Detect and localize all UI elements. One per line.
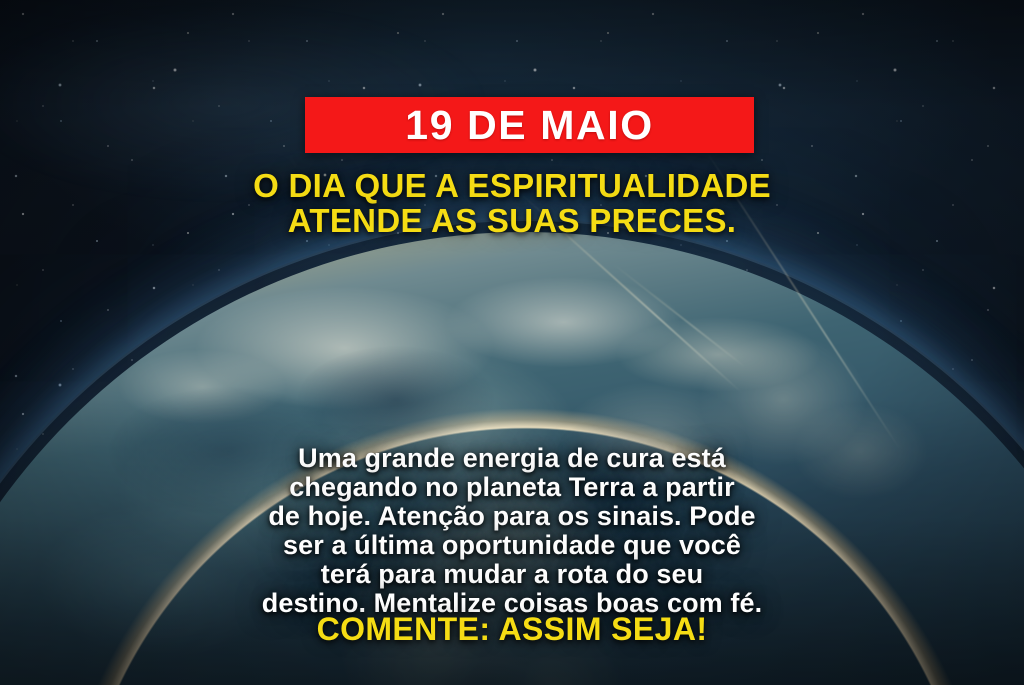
body-copy-line-2: chegando no planeta Terra a partir <box>40 473 984 502</box>
call-to-action-text: COMENTE: ASSIM SEJA! <box>0 613 1024 645</box>
body-copy-line-5: terá para mudar a rota do seu <box>40 560 984 589</box>
body-copy-line-3: de hoje. Atenção para os sinais. Pode <box>40 502 984 531</box>
headline: O DIA QUE A ESPIRITUALIDADE ATENDE AS SU… <box>0 168 1024 238</box>
body-copy-line-4: ser a última oportunidade que você <box>40 531 984 560</box>
text-content-layer: 19 DE MAIO O DIA QUE A ESPIRITUALIDADE A… <box>0 0 1024 685</box>
date-badge-label: 19 DE MAIO <box>405 105 653 146</box>
date-badge: 19 DE MAIO <box>305 97 754 153</box>
poster-canvas: 19 DE MAIO O DIA QUE A ESPIRITUALIDADE A… <box>0 0 1024 685</box>
headline-line-2: ATENDE AS SUAS PRECES. <box>52 203 972 238</box>
body-copy-line-1: Uma grande energia de cura está <box>40 444 984 473</box>
body-copy: Uma grande energia de cura está chegando… <box>0 444 1024 618</box>
headline-line-1: O DIA QUE A ESPIRITUALIDADE <box>52 168 972 203</box>
